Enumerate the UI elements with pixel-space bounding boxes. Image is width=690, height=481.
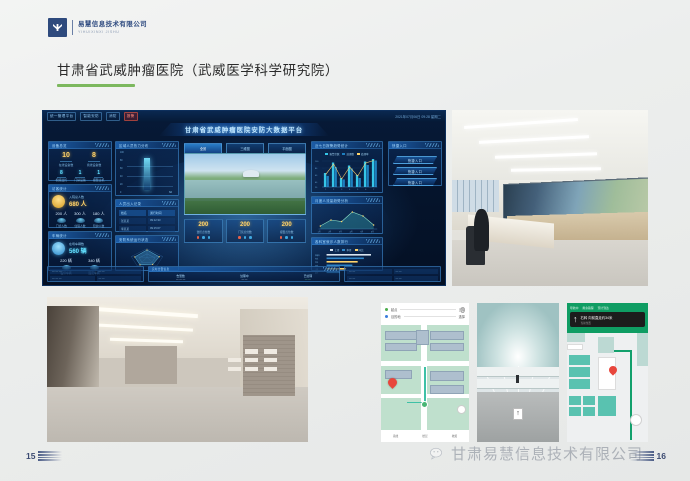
building [416,330,428,345]
building [430,371,463,380]
map-block [569,407,580,416]
center-aerial-photo [184,153,306,215]
center-stat-card-0: 200 监控点位数 [184,219,223,243]
hbar-legend-label-1: 本月 [346,248,351,252]
panel-access-log-body: 姓名 通行时间 张某某 09:12:33 李某某 09:15:07 [116,207,178,236]
access-log-table: 姓名 通行时间 张某某 09:12:33 李某某 09:15:07 [119,210,175,232]
nav-instruction-sub: 当前位置 [581,321,613,325]
stat-door-label: 门禁设备 [74,178,86,182]
svg-text:3: 3 [341,189,342,191]
bar-chart-legend: 报警次数 处理数 处理率 [315,152,379,156]
control-room-photo [452,110,648,286]
gauge-bar [144,158,150,190]
person-gold-icon [52,195,65,208]
gauge-value-label: 62 [169,191,172,194]
route-path [424,367,425,403]
panel-bar-chart-header: 近七日报警趋势统计 [312,142,382,149]
panel-device-status-header: 设备总览 [49,142,111,149]
page-number-left-block: 15 [26,451,62,461]
table-row: 李某某 09:15:07 [119,226,175,232]
visitor-sub-1-value: 300 人 [71,211,90,217]
nav-instruction-text: 右转 向前直走约34米 当前位置 [581,315,613,325]
panel-radar-title: 安防系统运行状态 [119,237,149,242]
visitor-sub-stats: 200 人 门诊人数 300 人 住院人数 180 人 陪护人数 [52,211,108,228]
nav-route-tab-2[interactable]: 预计到达 [598,306,609,310]
svg-text:6: 6 [365,189,366,191]
legend-label-1: 处理数 [346,152,354,156]
panel-line-chart: 月度人流量趋势分析 1月2月3月 [311,196,383,234]
building [385,343,417,351]
table-row: — — —— — [50,276,141,281]
panel-quick-entry-body: 快捷入口 快捷入口 快捷入口 [389,149,441,192]
vehicle-main-row: 在场车辆数 560 辆 [52,242,108,255]
logo-company-cn: 易慧信息技术有限公司 [78,21,147,29]
wall-plaque [228,367,241,371]
table-row: — —— — [347,276,438,281]
visitor-main-text: 入院总人数 680 人 [69,195,87,208]
vehicle-sub-1-value: 340 辆 [80,258,108,264]
divider [400,309,455,310]
gauge-tick-1: 80 [120,160,127,162]
corridor-photo [47,297,308,442]
stat-underline [94,177,104,178]
center-stat-2-label: 报警点位数 [268,230,305,234]
panel-visitor-title: 访客统计 [52,186,67,191]
svg-text:4: 4 [349,189,350,191]
footer-tab-1[interactable]: 楼层 [410,430,439,442]
quick-entry-button-0[interactable]: 快捷入口 [393,156,437,164]
panel-quick-entry-title: 快捷入口 [392,143,407,148]
access-log-header-row: 姓名 通行时间 [119,210,175,216]
building [430,331,463,339]
panel-gauge-title: 区域人员热力分布 [119,143,149,148]
windows [452,180,499,212]
table-row: — — —— — [50,269,141,274]
panel-vehicle-title: 车辆统计 [52,233,67,238]
nav-to-row[interactable]: 目的地 选择 [385,314,465,319]
center-stat-0-value: 200 [185,222,222,229]
person-blue-icon [52,242,65,255]
svg-text:2: 2 [333,189,334,191]
access-col-time: 通行时间 [148,210,175,216]
logo-divider [72,20,73,35]
nav-route-tab-1[interactable]: 剩余路程 [582,306,593,310]
map-block [569,396,580,405]
nav-instruction-main: 右转 向前直走约34米 [581,315,613,320]
cell: — — [394,269,439,274]
panel-line-chart-header: 月度人流量趋势分析 [312,197,382,204]
footer-tab-2[interactable]: 收藏 [440,430,469,442]
building [430,385,463,394]
stat-alarm: 1 报警主机 [93,170,105,183]
bulb-icon [94,218,103,223]
logo-company-en: YIHUIXINXI JISHU [78,30,147,35]
panel-line-chart-body: 1月2月3月 4月5月6月 [312,204,382,236]
vehicle-main-text: 在场车辆数 560 辆 [69,242,87,255]
stat-underline [57,177,67,178]
nav-instruction-card: ↑ 右转 向前直走约34米 当前位置 [570,312,645,327]
dashboard-clock: 2021年07月06日 09:28 星期二 [395,114,441,119]
compass-icon[interactable] [630,414,642,426]
legend-label-0: 报警次数 [329,152,339,156]
svg-text:肿瘤科: 肿瘤科 [315,254,320,257]
svg-text:40: 40 [315,182,318,184]
visitor-sub-2-value: 180 人 [89,211,108,217]
map-block [583,396,594,405]
atrium-skylight [477,303,559,370]
panel-vehicle-stats: 车辆统计 在场车辆数 560 辆 220 辆 临停车辆 [48,231,112,271]
visitor-sub-0: 200 人 门诊人数 [52,211,71,228]
svg-text:5: 5 [357,189,358,191]
aerial-building [243,170,259,177]
panel-radar-header: 安防系统运行状态 [116,236,178,243]
seated-operator [474,209,490,251]
panel-heat-gauge: 区域人员热力分布 100 80 60 40 20 0 62 [115,141,179,196]
wall-plaque [264,349,277,353]
dashboard-topbar: 统一管理平台 智能安防 消防 报警 2021年07月06日 09:28 星期二 [43,111,445,122]
svg-text:内科: 内科 [315,257,318,260]
wall-plaque [245,358,258,362]
panel-bar-chart: 近七日报警趋势统计 报警次数 处理数 处理率 [311,141,383,193]
stat-video-label: 视频监控 [56,178,68,182]
hbar-legend-label-2: 同比 [359,248,364,252]
panel-quick-entry: 快捷入口 快捷入口 快捷入口 快捷入口 [388,141,442,186]
svg-text:6月: 6月 [371,229,374,233]
stat-offline-label: 离线设备数 [87,163,101,167]
dashboard-title-banner: 甘肃省武威肿瘤医院安防大数据平台 [159,123,329,136]
legend-item-1: 本月 [342,248,351,252]
stat-door: 1 门禁设备 [74,170,86,183]
svg-text:3月: 3月 [339,229,342,233]
gauge-tick-5: 0 [120,192,127,194]
nav-map-screenshot: 起点 当前 目的地 选择 0 [381,303,469,442]
panel-access-log: 人员出入记录 姓名 通行时间 张某某 09:12:33 李某某 09:15:07 [115,199,179,232]
visitor-sub-0-label: 门诊人数 [52,224,71,228]
stat-video: 8 视频监控 [56,170,68,183]
panel-quick-entry-header: 快捷入口 [389,142,441,149]
visitor-sub-1-label: 住院人数 [71,224,90,228]
nav-map-canvas[interactable] [381,325,469,430]
gauge-chart: 100 80 60 40 20 0 62 [119,152,175,194]
center-stat-1-dots [227,236,264,239]
corridor-end-wall [125,346,177,384]
svg-text:1: 1 [325,189,326,191]
slide-canvas: 易慧信息技术有限公司 YIHUIXINXI JISHU 甘肃省武威肿瘤医院（武威… [0,0,690,481]
bulb-icon [76,218,85,223]
bottom-panel-0: — — —— — — — —— — [47,266,144,282]
map-block [567,344,583,351]
map-block [569,367,590,377]
panel-visitor-body: 入院总人数 680 人 200 人 门诊人数 300 人 住院人数 [49,192,111,231]
svg-text:2月: 2月 [328,229,331,233]
building [385,370,411,378]
stat-online-label: 在线设备数 [59,163,73,167]
center-stat-2-value: 200 [268,222,305,229]
stat-alarm-value: 1 [93,170,105,176]
svg-text:1月: 1月 [318,229,321,233]
device-secondary-stats: 8 视频监控 1 门禁设备 1 报警主机 [52,170,108,183]
vehicle-main-value: 560 辆 [69,246,87,255]
svg-text:20: 20 [315,187,318,189]
company-logo: 易慧信息技术有限公司 YIHUIXINXI JISHU [48,18,147,37]
wall-plaque [264,358,277,362]
center-stat-2-dots [268,236,305,239]
panel-line-chart-title: 月度人流量趋势分析 [315,198,348,203]
dashboard-title: 甘肃省武威肿瘤医院安防大数据平台 [185,125,303,134]
cell: — — [97,276,142,281]
center-stat-cards: 200 监控点位数 200 门禁点位数 200 报警点位数 [184,219,306,243]
hbar-chart-legend: 上月 本月 同比 [315,248,379,252]
bottom-panel-2: — —— — — —— — [344,266,441,282]
panel-visitor-stats: 访客统计 入院总人数 680 人 200 人 门诊人数 [48,184,112,228]
device-primary-stats: 10 在线设备数 8 离线设备数 [52,152,108,167]
panel-bar-chart-body: 报警次数 处理数 处理率 10080 604020 [312,149,382,194]
bottom-panel-2-body: — —— — — —— — [345,267,440,284]
feature-wall [243,335,295,396]
bulb-icon [57,218,66,223]
nav-map-header: 起点 当前 目的地 选择 0 [381,303,469,325]
cell: — — — [50,269,95,274]
access-col-name: 姓名 [119,210,146,216]
divider [404,316,456,317]
origin-dot-icon [385,308,388,311]
svg-text:外科: 外科 [315,261,318,264]
access-row-0-name: 张某某 [119,218,146,224]
bottom-metric-0: 告警数 — — — [176,274,185,281]
svg-text:100: 100 [315,161,319,163]
map-block [569,379,590,389]
wechat-icon [430,447,446,461]
cell: — — [97,269,142,274]
dashboard-title-wrap: 甘肃省武威肿瘤医院安防大数据平台 [43,122,445,137]
panel-access-log-title: 人员出入记录 [119,201,141,206]
legend-item-2: 处理率 [357,152,369,156]
gauge-axis: 100 80 60 40 20 0 [120,152,127,194]
nav-route-header: 导航中 剩余路程 预计到达 ↑ 右转 向前直走约34米 当前位置 [567,303,648,333]
watermark-text: 甘肃易慧信息技术有限公司 [451,443,643,464]
nav-route-tab-0[interactable]: 导航中 [570,306,578,310]
stat-offline-value: 8 [87,152,101,160]
legend-item-0: 上月 [330,248,339,252]
legend-item-2: 同比 [355,248,364,252]
dashboard-bottom-strip: — — —— — — — —— — 实时告警信息 告警数 — — — 处理中 —… [47,266,441,282]
visitor-sub-0-value: 200 人 [52,211,71,217]
stat-video-value: 8 [56,170,68,176]
direction-arrow-icon: ↑ [573,315,578,324]
wall-plaque [245,367,258,371]
stat-alarm-label: 报警主机 [93,178,105,182]
person-silhouette [516,375,519,383]
page-title-block: 甘肃省武威肿瘤医院（武威医学科学研究院） [57,62,339,87]
center-stat-card-1: 200 门禁点位数 [226,219,265,243]
center-stat-0-label: 监控点位数 [185,230,222,234]
stat-underline [88,161,100,162]
visitor-sub-2-label: 陪护人数 [89,224,108,228]
move-forward-arrow-icon[interactable]: ↑ [513,408,523,420]
panel-visitor-header: 访客统计 [49,185,111,192]
building [385,331,417,339]
svg-text:4月: 4月 [350,229,353,233]
stat-door-value: 1 [74,170,86,176]
legend-label-2: 处理率 [361,152,369,156]
nav-go-button[interactable]: 0 [461,306,465,315]
center-stat-1-label: 门禁点位数 [227,230,264,234]
gauge-tick-4: 20 [120,184,127,186]
route-line [630,350,632,415]
road [381,361,469,366]
nav-route-screenshot: 导航中 剩余路程 预计到达 ↑ 右转 向前直走约34米 当前位置 [567,303,648,442]
panel-hbar-chart-header: 各科室就诊人数排行 [312,238,382,245]
topbar-chip-0[interactable]: 统一管理平台 [47,112,76,121]
map-block [637,333,648,366]
nav-route-tabs[interactable]: 导航中 剩余路程 预计到达 [570,306,645,310]
panel-bar-chart-title: 近七日报警趋势统计 [315,143,348,148]
map-block [598,337,614,352]
center-stat-1-value: 200 [227,222,264,229]
page-title: 甘肃省武威肿瘤医院（武威医学科学研究院） [57,62,339,80]
table-row: 张某某 09:12:33 [119,218,175,224]
svg-text:80: 80 [315,168,318,170]
panel-gauge-body: 100 80 60 40 20 0 62 [116,149,178,197]
panel-device-status-title: 设备总览 [52,143,67,148]
map-block [569,355,590,365]
map-block [583,407,594,416]
bottom-panel-0-body: — — —— — — — —— — [48,267,143,284]
title-underline [57,84,135,87]
stat-offline: 8 离线设备数 [87,152,101,167]
vehicle-sub-0-value: 220 辆 [52,258,80,264]
panel-vehicle-header: 车辆统计 [49,232,111,239]
topbar-chip-1[interactable]: 智能安防 [80,112,102,121]
access-row-0-time: 09:12:33 [148,218,175,224]
gauge-tick-0: 100 [120,152,127,154]
gauge-tick-3: 40 [120,176,127,178]
panorama-screenshot: ↑ [477,303,559,442]
visitor-sub-1: 300 人 住院人数 [71,211,90,228]
nav-from-row[interactable]: 起点 当前 [385,307,465,312]
table-row: — —— — [347,269,438,274]
page-number-left: 15 [26,451,35,461]
topbar-chip-2[interactable]: 消防 [106,112,120,121]
quick-entry-button-2[interactable]: 快捷入口 [393,178,437,186]
bottom-panel-1: 实时告警信息 告警数 — — — 处理中 — — 已处理 — — [148,266,340,282]
line-chart-canvas: 1月2月3月 4月5月6月 [315,207,379,233]
logo-text: 易慧信息技术有限公司 YIHUIXINXI JISHU [78,21,147,35]
visitor-main-row: 入院总人数 680 人 [52,195,108,208]
map-block [567,333,585,342]
wall-plaque [228,358,241,362]
bottom-metric-2: 已处理 — — [304,274,312,281]
bar-chart-canvas: 10080 604020 [315,157,379,191]
stat-online-value: 10 [59,152,73,160]
svg-text:5月: 5月 [360,229,363,233]
access-row-1-name: 李某某 [119,226,146,232]
page-decor-bars [38,451,62,460]
route-line [614,350,632,352]
m-monogram-icon [48,18,67,37]
map-block [598,396,616,416]
panel-device-status: 设备总览 10 在线设备数 8 离线设备数 [48,141,112,181]
page-decor-bars [630,451,654,460]
cell: — — [347,269,392,274]
panel-device-status-body: 10 在线设备数 8 离线设备数 8 视频监控 [49,149,111,185]
stat-online: 10 在线设备数 [59,152,73,167]
nav-to-label: 目的地 [391,314,401,319]
wall-plaque [245,349,258,353]
gauge-tick-2: 60 [120,168,127,170]
panel-access-log-header: 人员出入记录 [116,200,178,207]
svg-text:60: 60 [315,175,318,177]
dashboard-topbar-chips: 统一管理平台 智能安防 消防 报警 [47,112,138,121]
page-number-right: 16 [657,451,666,461]
panel-gauge-header: 区域人员热力分布 [116,142,178,149]
cell: — — [394,276,439,281]
cell: — — [347,276,392,281]
legend-item-1: 处理数 [342,152,354,156]
aerial-vegetation [185,198,305,214]
visitor-main-value: 680 人 [69,199,87,208]
svg-text:7: 7 [373,189,374,191]
center-stat-card-2: 200 报警点位数 [267,219,306,243]
nav-map-footer[interactable]: 路线 楼层 收藏 [381,430,469,442]
stat-underline [60,161,72,162]
nav-route-map-canvas[interactable] [567,333,648,442]
page-number-right-block: 16 [630,451,666,461]
compass-icon[interactable] [457,405,466,414]
access-row-1-time: 09:15:07 [148,226,175,232]
bottom-panel-1-body: 告警数 — — — 处理中 — — 已处理 — — [149,272,339,282]
quick-entry-button-1[interactable]: 快捷入口 [393,167,437,175]
bottom-metric-1: 处理中 — — [240,274,248,281]
legend-item-0: 报警次数 [325,152,339,156]
security-dashboard-screenshot: 统一管理平台 智能安防 消防 报警 2021年07月06日 09:28 星期二 … [42,110,446,286]
topbar-chip-alarm[interactable]: 报警 [124,112,138,121]
stat-underline [75,177,85,178]
wechat-watermark: 甘肃易慧信息技术有限公司 [430,443,643,464]
nav-from-label: 起点 [391,307,397,312]
footer-tab-0[interactable]: 路线 [381,430,410,442]
destination-dot-icon [385,315,388,318]
cell: — — — [50,276,95,281]
building [430,343,463,351]
panel-hbar-chart-title: 各科室就诊人数排行 [315,239,348,244]
hbar-legend-label-0: 上月 [334,248,339,252]
wall-plaque [264,367,277,371]
visitor-sub-2: 180 人 陪护人数 [89,211,108,228]
center-stat-0-dots [185,236,222,239]
